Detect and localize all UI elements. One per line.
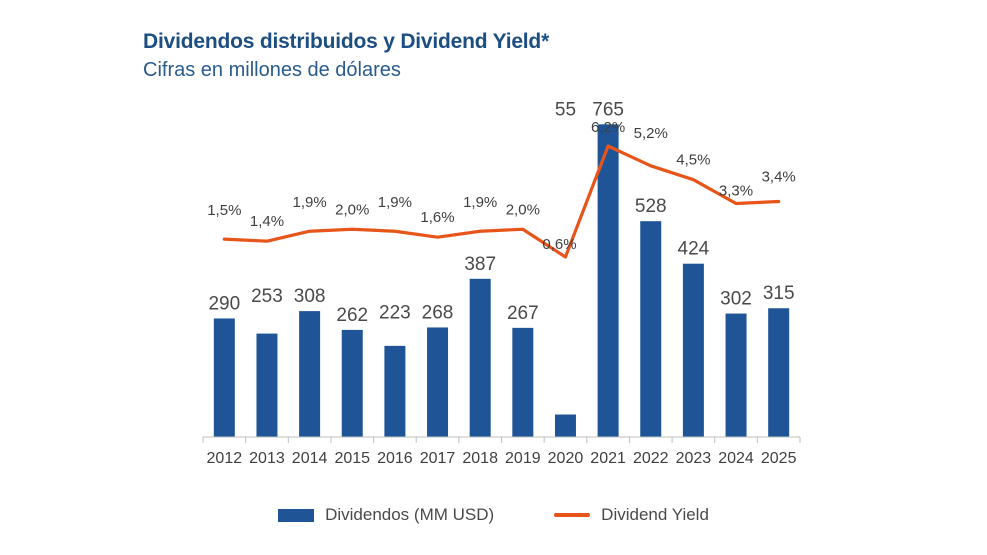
legend-line-swatch-icon (554, 513, 590, 517)
x-axis-label-2018: 2018 (462, 450, 498, 467)
x-axis-label-2017: 2017 (420, 450, 456, 467)
bar-2024[interactable] (726, 314, 747, 437)
yield-value-label: 2,0% (506, 201, 540, 218)
bar-2020[interactable] (555, 415, 576, 437)
bar-value-label: 253 (251, 286, 283, 307)
legend-label-dividend-yield: Dividend Yield (601, 505, 709, 525)
yield-value-label: 3,4% (762, 169, 796, 186)
bar-value-label: 55 (555, 99, 576, 120)
yield-value-label: 2,0% (335, 201, 369, 218)
yield-value-label: 3,3% (719, 182, 753, 199)
bar-2022[interactable] (640, 221, 661, 437)
bar-value-label: 387 (464, 254, 496, 275)
legend-label-dividendos: Dividendos (MM USD) (325, 505, 494, 525)
legend-item-dividend-yield[interactable]: Dividend Yield (554, 505, 709, 525)
yield-value-label: 0,6% (542, 236, 576, 253)
x-axis-label-2020: 2020 (548, 450, 584, 467)
x-axis-label-2016: 2016 (377, 450, 413, 467)
bar-2023[interactable] (683, 264, 704, 437)
yield-value-label: 4,5% (676, 152, 710, 169)
bar-value-label: 267 (507, 303, 539, 324)
bar-value-label: 268 (422, 302, 454, 323)
x-axis-label-2022: 2022 (633, 450, 669, 467)
bar-value-label: 315 (763, 283, 795, 304)
bar-value-label: 302 (720, 289, 752, 310)
bar-value-label: 262 (336, 305, 368, 326)
bar-2017[interactable] (427, 327, 448, 437)
bar-value-label: 528 (635, 196, 667, 217)
yield-value-label: 1,4% (250, 213, 284, 230)
bar-value-label: 223 (379, 302, 411, 323)
yield-value-label: 1,6% (420, 209, 454, 226)
yield-value-label: 1,5% (207, 202, 241, 219)
x-axis-label-2021: 2021 (590, 450, 626, 467)
bar-2018[interactable] (470, 279, 491, 437)
bar-2015[interactable] (342, 330, 363, 437)
x-axis-label-2015: 2015 (334, 450, 370, 467)
x-axis-label-2023: 2023 (676, 450, 712, 467)
yield-value-label: 1,9% (463, 194, 497, 211)
yield-value-label: 1,9% (378, 194, 412, 211)
yield-value-label: 1,9% (293, 194, 327, 211)
plot-area: 2902533082622232683872675576552842430231… (0, 0, 987, 500)
legend-bar-swatch-icon (278, 509, 314, 522)
bar-2013[interactable] (256, 334, 277, 437)
x-axis-label-2024: 2024 (718, 450, 754, 467)
bar-value-label: 290 (208, 293, 240, 314)
x-axis-label-2013: 2013 (249, 450, 285, 467)
bar-value-label: 308 (294, 286, 326, 307)
bar-2025[interactable] (768, 308, 789, 437)
yield-value-label: 6,2% (591, 119, 625, 136)
bar-2012[interactable] (214, 318, 235, 437)
x-axis-label-2012: 2012 (207, 450, 243, 467)
yield-value-label: 5,2% (634, 125, 668, 142)
chart-legend: Dividendos (MM USD) Dividend Yield (0, 505, 987, 525)
bar-value-label: 765 (592, 99, 624, 120)
dividend-chart: Dividendos distribuidos y Dividend Yield… (0, 0, 987, 555)
bar-2016[interactable] (384, 346, 405, 437)
bar-2019[interactable] (512, 328, 533, 437)
x-axis-label-2025: 2025 (761, 450, 797, 467)
bar-2021[interactable] (598, 124, 619, 437)
x-axis-label-2014: 2014 (292, 450, 328, 467)
bar-2014[interactable] (299, 311, 320, 437)
x-axis-label-2019: 2019 (505, 450, 541, 467)
legend-item-dividendos[interactable]: Dividendos (MM USD) (278, 505, 494, 525)
bar-value-label: 424 (678, 239, 710, 260)
